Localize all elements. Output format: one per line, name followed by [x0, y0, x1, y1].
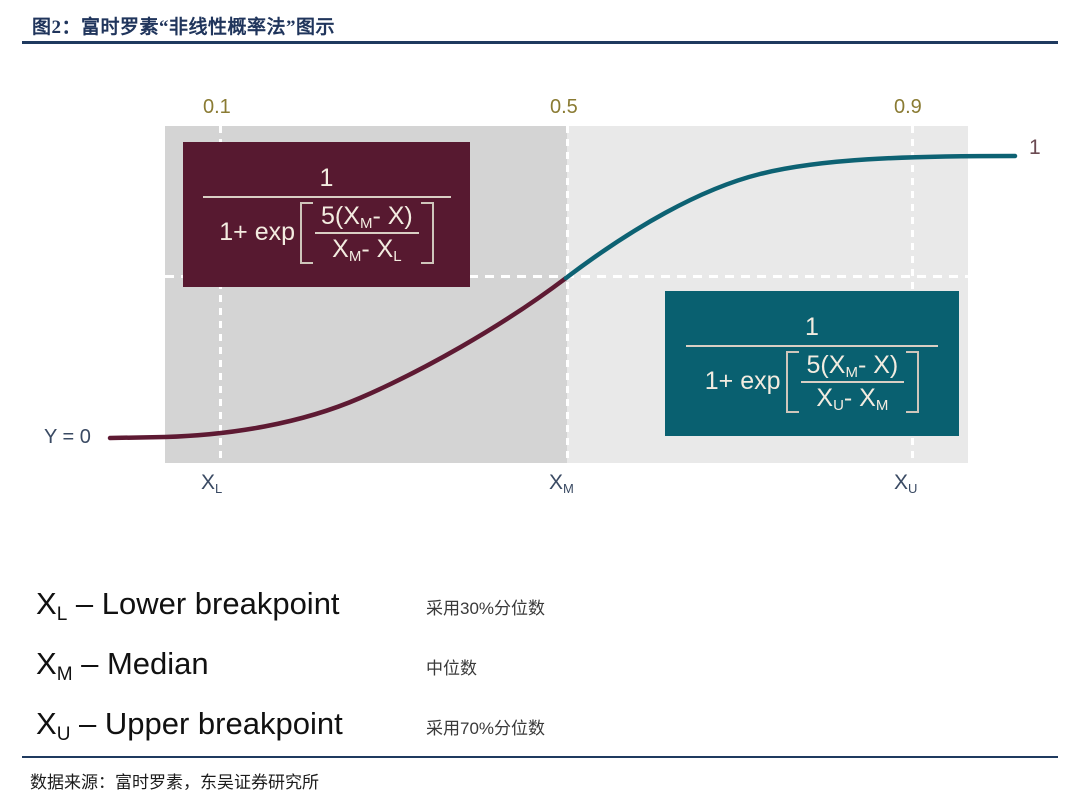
legend-term-base: X [36, 706, 57, 741]
footer-divider [22, 756, 1058, 758]
legend-term-sub: U [57, 724, 71, 745]
legend-row: XL – Lower breakpoint 采用30%分位数 [36, 586, 936, 646]
legend-row: XM – Median 中位数 [36, 646, 936, 706]
legend-term-sub: M [57, 664, 73, 685]
bracket-left-icon [786, 351, 799, 413]
upper-formula-exp-prefix: 1+ exp [705, 369, 781, 394]
inner-num-sub: M [845, 364, 858, 381]
inner-num-sub: M [360, 215, 373, 232]
inner-den-a: X [332, 235, 349, 263]
lower-breakpoint-formula-box: 1 1+ exp 5(XM- X) XM- XL [183, 142, 470, 287]
axis-label-xm-base: X [549, 471, 563, 494]
inner-num-post: - X) [372, 202, 412, 230]
figure-plot-area: 0.1 0.5 0.9 XL XM XU Y = 0 1 1 1+ exp 5(… [0, 46, 1080, 746]
inner-num-pre: 5(X [807, 351, 846, 379]
legend-note-xl: 采用30%分位数 [426, 594, 545, 619]
axis-label-xu-sub: U [908, 481, 917, 496]
lower-formula-inner-denominator: XM- XL [326, 234, 407, 264]
lower-formula-denominator: 1+ exp 5(XM- X) XM- XL [213, 198, 439, 266]
header-divider [22, 41, 1058, 44]
lower-formula-numerator: 1 [314, 164, 340, 196]
tick-label-0-9: 0.9 [894, 96, 922, 119]
upper-formula-inner-numerator: 5(XM- X) [801, 351, 905, 381]
legend-term-base: X [36, 646, 57, 681]
bracket-right-icon [421, 202, 434, 264]
inner-den-op: - X [844, 384, 876, 412]
bracket-left-icon [300, 202, 313, 264]
upper-formula-inner-denominator: XU- XM [810, 383, 894, 413]
axis-label-xu-base: X [894, 471, 908, 494]
legend-note-xm: 中位数 [426, 654, 477, 679]
lower-formula-exp-prefix: 1+ exp [219, 220, 295, 245]
upper-formula-numerator: 1 [799, 313, 825, 345]
upper-formula-fraction: 1 1+ exp 5(XM- X) XU- XM [686, 313, 938, 415]
inner-num-pre: 5(X [321, 202, 360, 230]
inner-den-op: - X [361, 235, 393, 263]
legend-term-base: X [36, 586, 57, 621]
axis-label-xm: XM [549, 471, 574, 495]
y-axis-label-one: 1 [1029, 136, 1041, 160]
axis-label-xl-sub: L [215, 481, 222, 496]
source-note: 数据来源：富时罗素，东吴证券研究所 [30, 768, 319, 793]
inner-num-post: - X) [858, 351, 898, 379]
exhibit-header: 图2：富时罗素“非线性概率法”图示 [0, 0, 1080, 46]
upper-formula-denominator: 1+ exp 5(XM- X) XU- XM [699, 347, 925, 415]
lower-formula-fraction: 1 1+ exp 5(XM- X) XM- XL [203, 164, 451, 266]
inner-den-a: X [816, 384, 833, 412]
lower-formula-inner-numerator: 5(XM- X) [315, 202, 419, 232]
upper-formula-inner-fraction: 5(XM- X) XU- XM [801, 351, 905, 413]
inner-den-b-sub: L [393, 248, 401, 265]
inner-den-b-sub: M [876, 397, 889, 414]
axis-label-xu: XU [894, 471, 917, 495]
inner-den-a-sub: U [833, 397, 844, 414]
axis-label-xl: XL [201, 471, 222, 495]
tick-label-0-1: 0.1 [203, 96, 231, 119]
legend: XL – Lower breakpoint 采用30%分位数 XM – Medi… [36, 586, 936, 766]
tick-label-0-5: 0.5 [550, 96, 578, 119]
axis-label-xl-base: X [201, 471, 215, 494]
legend-term-xu: XU – Upper breakpoint [36, 706, 426, 742]
legend-term-rest: – Median [73, 646, 209, 681]
lower-formula-inner-fraction: 5(XM- X) XM- XL [315, 202, 419, 264]
inner-den-a-sub: M [349, 248, 362, 265]
legend-term-rest: – Lower breakpoint [67, 586, 339, 621]
axis-label-xm-sub: M [563, 481, 574, 496]
bracket-right-icon [906, 351, 919, 413]
legend-term-xl: XL – Lower breakpoint [36, 586, 426, 622]
legend-term-sub: L [57, 604, 68, 625]
legend-note-xu: 采用70%分位数 [426, 714, 545, 739]
upper-breakpoint-formula-box: 1 1+ exp 5(XM- X) XU- XM [665, 291, 959, 436]
y-axis-label-zero: Y = 0 [44, 426, 91, 449]
page-title: 图2：富时罗素“非线性概率法”图示 [32, 12, 335, 39]
legend-term-xm: XM – Median [36, 646, 426, 682]
lower-formula-bracket: 5(XM- X) XM- XL [300, 202, 434, 264]
legend-term-rest: – Upper breakpoint [70, 706, 342, 741]
upper-formula-bracket: 5(XM- X) XU- XM [786, 351, 920, 413]
